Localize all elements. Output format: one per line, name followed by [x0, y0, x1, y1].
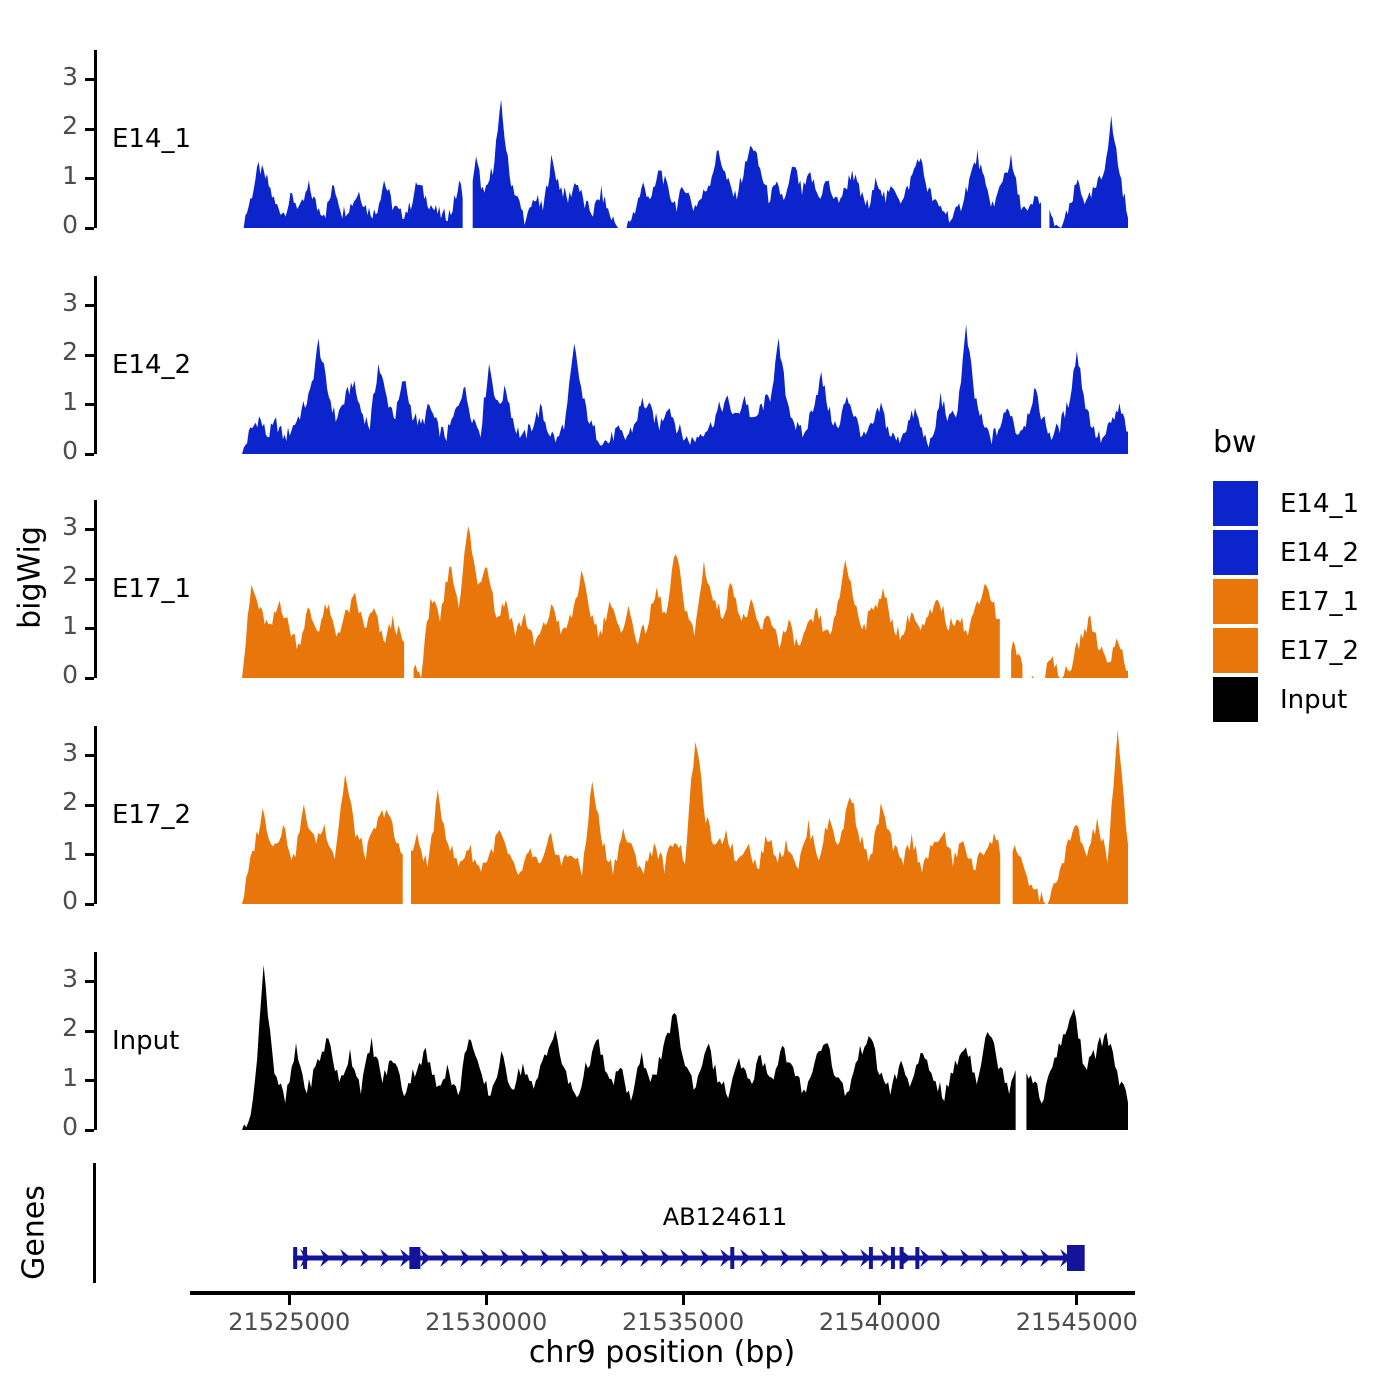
y-tick-label-e17_1-1: 1 [16, 611, 78, 640]
legend-item-input[interactable]: Input [1213, 677, 1347, 722]
y-tick-e14_1-2 [85, 128, 94, 131]
y-tick-e14_2-1 [85, 403, 94, 406]
x-tick-label-21540000: 21540000 [785, 1308, 975, 1336]
y-tick-e17_2-0 [85, 903, 94, 906]
gene-exon [409, 1247, 420, 1269]
legend-swatch-e14_1 [1213, 481, 1258, 526]
x-tick-21535000 [682, 1295, 685, 1305]
y-tick-label-input-2: 2 [16, 1013, 78, 1042]
y-tick-e17_1-1 [85, 627, 94, 630]
y-tick-e14_1-0 [85, 227, 94, 230]
x-tick-21540000 [878, 1295, 881, 1305]
y-axis-line-input [94, 952, 97, 1130]
legend-label-e17_2: E17_2 [1280, 636, 1359, 666]
track-name-e14_1: E14_1 [112, 124, 191, 154]
y-tick-label-e14_1-2: 2 [16, 111, 78, 140]
y-tick-label-input-3: 3 [16, 964, 78, 993]
y-tick-e14_1-1 [85, 177, 94, 180]
legend-title: bw [1213, 425, 1257, 460]
y-tick-e17_1-0 [85, 677, 94, 680]
y-tick-label-e14_2-3: 3 [16, 288, 78, 317]
y-axis-line-e17_2 [94, 726, 97, 904]
y-tick-label-e14_1-3: 3 [16, 62, 78, 91]
signal-track-input[interactable] [242, 952, 1128, 1130]
legend-item-e14_2[interactable]: E14_2 [1213, 530, 1359, 575]
y-axis-line-e14_1 [94, 50, 97, 228]
y-tick-label-e17_2-2: 2 [16, 787, 78, 816]
x-tick-21525000 [288, 1295, 291, 1305]
y-tick-label-input-1: 1 [16, 1063, 78, 1092]
y-tick-label-e17_2-0: 0 [16, 886, 78, 915]
gene-exon [915, 1247, 919, 1269]
legend-swatch-e17_2 [1213, 628, 1258, 673]
x-tick-label-21530000: 21530000 [391, 1308, 581, 1336]
legend-swatch-input [1213, 677, 1258, 722]
legend-label-input: Input [1280, 685, 1347, 715]
signal-track-e14_2[interactable] [242, 276, 1128, 454]
y-tick-e17_2-1 [85, 853, 94, 856]
x-tick-label-21535000: 21535000 [588, 1308, 778, 1336]
track-name-input: Input [112, 1026, 179, 1056]
y-tick-e17_2-2 [85, 804, 94, 807]
x-tick-21530000 [485, 1295, 488, 1305]
y-tick-label-e17_2-1: 1 [16, 837, 78, 866]
y-tick-e14_2-2 [85, 354, 94, 357]
gene-exon [730, 1247, 734, 1269]
gene-exon [1067, 1245, 1085, 1271]
y-tick-label-e17_1-0: 0 [16, 660, 78, 689]
y-tick-e14_2-3 [85, 304, 94, 307]
y-tick-input-2 [85, 1030, 94, 1033]
gene-exon [303, 1247, 307, 1269]
signal-track-e17_1[interactable] [242, 500, 1128, 678]
track-name-e17_1: E17_1 [112, 574, 191, 604]
y-tick-input-1 [85, 1079, 94, 1082]
y-tick-label-e17_1-2: 2 [16, 561, 78, 590]
legend-label-e14_1: E14_1 [1280, 489, 1359, 519]
track-name-e14_2: E14_2 [112, 350, 191, 380]
y-tick-label-e14_2-2: 2 [16, 337, 78, 366]
genes-axis-line [93, 1163, 96, 1283]
gene-exon [900, 1247, 904, 1269]
gene-model-track[interactable] [190, 1230, 1135, 1290]
y-tick-label-e14_1-1: 1 [16, 161, 78, 190]
gene-exon [891, 1247, 895, 1269]
y-axis-line-e14_2 [94, 276, 97, 454]
gene-name-label: AB124611 [625, 1203, 825, 1231]
y-tick-label-e14_2-0: 0 [16, 436, 78, 465]
track-name-e17_2: E17_2 [112, 800, 191, 830]
x-tick-label-21545000: 21545000 [982, 1308, 1172, 1336]
x-tick-label-21525000: 21525000 [194, 1308, 384, 1336]
x-axis-line [190, 1291, 1135, 1295]
y-axis-label-genes: Genes [17, 1163, 52, 1303]
y-tick-e17_1-2 [85, 578, 94, 581]
y-tick-label-e14_2-1: 1 [16, 387, 78, 416]
y-tick-e17_1-3 [85, 528, 94, 531]
legend-item-e17_2[interactable]: E17_2 [1213, 628, 1359, 673]
y-tick-label-input-0: 0 [16, 1112, 78, 1141]
y-tick-label-e17_1-3: 3 [16, 512, 78, 541]
y-tick-input-3 [85, 980, 94, 983]
legend-item-e17_1[interactable]: E17_1 [1213, 579, 1359, 624]
x-tick-21545000 [1075, 1295, 1078, 1305]
legend-label-e14_2: E14_2 [1280, 538, 1359, 568]
gene-exon [869, 1247, 873, 1269]
legend: bw E14_1E14_2E17_1E17_2Input [1213, 425, 1393, 685]
legend-item-e14_1[interactable]: E14_1 [1213, 481, 1359, 526]
y-tick-label-e17_2-3: 3 [16, 738, 78, 767]
legend-swatch-e17_1 [1213, 579, 1258, 624]
y-tick-e14_2-0 [85, 453, 94, 456]
x-axis-title: chr9 position (bp) [362, 1335, 962, 1370]
signal-track-e14_1[interactable] [242, 50, 1128, 228]
legend-label-e17_1: E17_1 [1280, 587, 1359, 617]
y-tick-input-0 [85, 1129, 94, 1132]
gene-exon [293, 1247, 297, 1269]
y-tick-e17_2-3 [85, 754, 94, 757]
signal-track-e17_2[interactable] [242, 726, 1128, 904]
y-axis-line-e17_1 [94, 500, 97, 678]
y-tick-e14_1-3 [85, 78, 94, 81]
y-tick-label-e14_1-0: 0 [16, 210, 78, 239]
legend-swatch-e14_2 [1213, 530, 1258, 575]
